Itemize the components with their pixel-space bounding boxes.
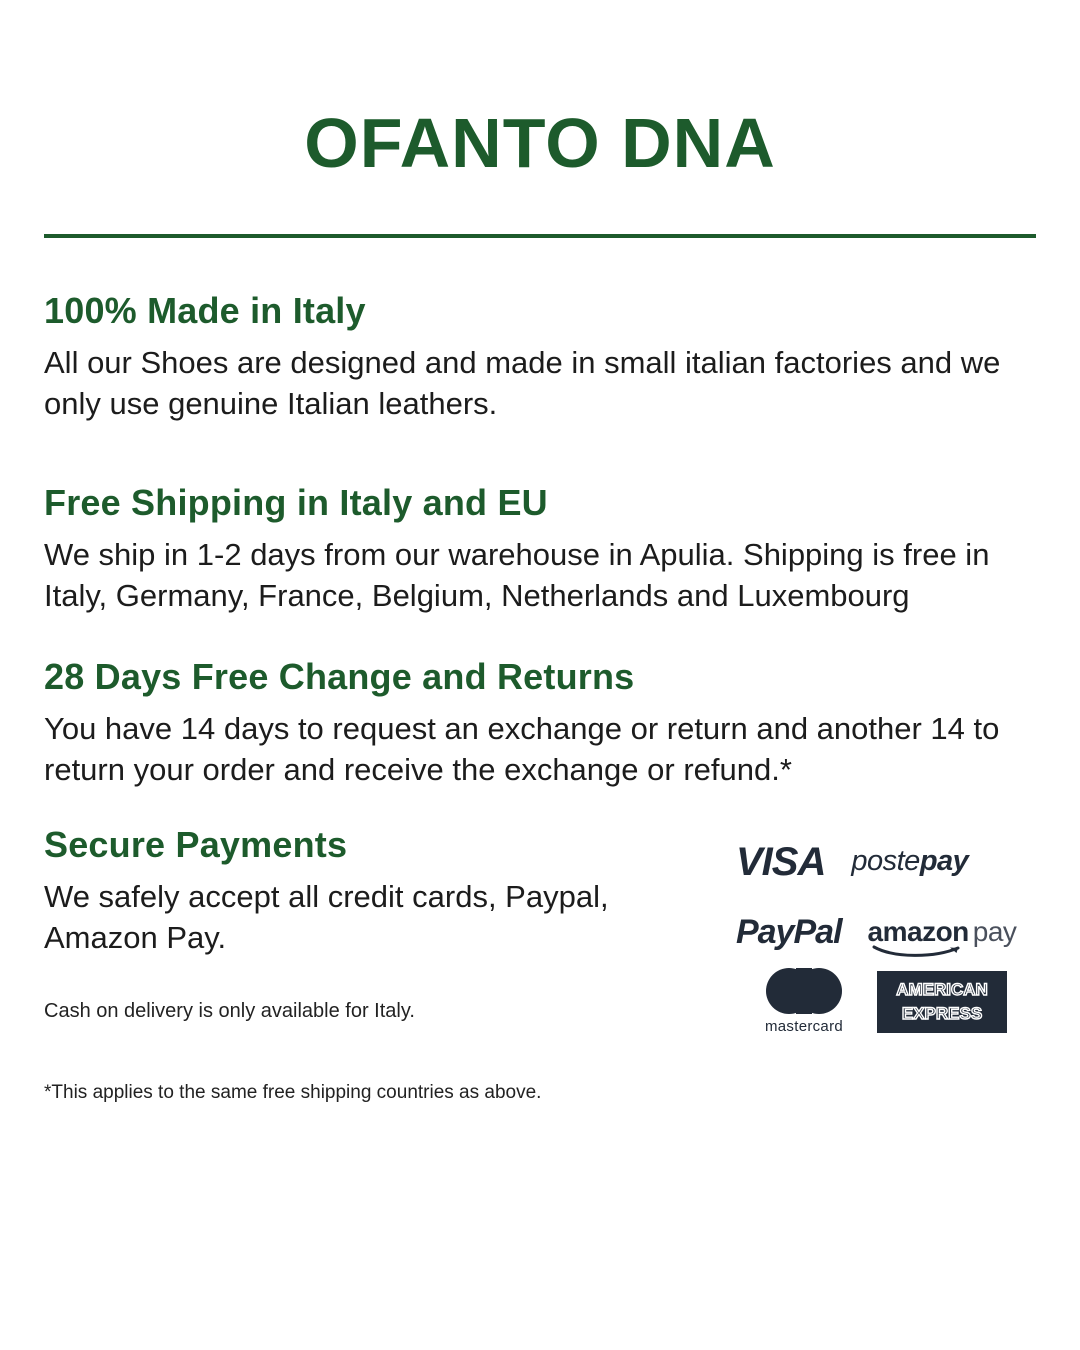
mastercard-icon: mastercard bbox=[765, 968, 843, 1035]
american-express-icon: AMERICAN EXPRESS bbox=[877, 971, 1007, 1033]
section-heading-returns: 28 Days Free Change and Returns bbox=[44, 656, 1036, 697]
postepay-label-light: poste bbox=[851, 845, 919, 877]
spacer bbox=[44, 424, 1036, 482]
section-free-shipping: Free Shipping in Italy and EU We ship in… bbox=[44, 482, 1036, 616]
section-heading-secure-payments: Secure Payments bbox=[44, 824, 684, 865]
page-title: OFANTO DNA bbox=[44, 0, 1036, 178]
amazon-pay-label: pay bbox=[973, 916, 1017, 947]
mastercard-overlap bbox=[796, 968, 812, 1014]
amex-line-2: EXPRESS bbox=[898, 1003, 986, 1024]
section-heading-free-shipping: Free Shipping in Italy and EU bbox=[44, 482, 1036, 523]
spacer bbox=[44, 958, 684, 998]
spacer bbox=[44, 790, 1036, 824]
footnote: *This applies to the same free shipping … bbox=[44, 1030, 1036, 1104]
section-secure-payments: Secure Payments We safely accept all cre… bbox=[44, 824, 1036, 1030]
section-heading-made-in-italy: 100% Made in Italy bbox=[44, 290, 1036, 331]
section-returns: 28 Days Free Change and Returns You have… bbox=[44, 656, 1036, 790]
postepay-icon: postepay bbox=[851, 847, 968, 876]
spacer bbox=[44, 616, 1036, 656]
section-body-free-shipping: We ship in 1-2 days from our warehouse i… bbox=[44, 535, 1036, 616]
paypal-icon: PayPal bbox=[736, 915, 842, 949]
title-divider bbox=[44, 234, 1036, 238]
section-body-made-in-italy: All our Shoes are designed and made in s… bbox=[44, 343, 1036, 424]
section-made-in-italy: 100% Made in Italy All our Shoes are des… bbox=[44, 290, 1036, 424]
payment-logos: VISA postepay PayPal amazonpay bbox=[736, 824, 1036, 1030]
page-root: OFANTO DNA 100% Made in Italy All our Sh… bbox=[0, 0, 1080, 1350]
visa-icon: VISA bbox=[736, 842, 825, 882]
payment-logo-row-2: PayPal amazonpay bbox=[736, 904, 1036, 960]
amazon-pay-icon: amazonpay bbox=[868, 918, 1017, 946]
sections-container: 100% Made in Italy All our Shoes are des… bbox=[44, 290, 1036, 1104]
payment-logo-row-3: mastercard AMERICAN EXPRESS bbox=[736, 974, 1036, 1030]
payment-logo-row-1: VISA postepay bbox=[736, 834, 1036, 890]
section-body-returns: You have 14 days to request an exchange … bbox=[44, 709, 1036, 790]
section-body-secure-payments: We safely accept all credit cards, Paypa… bbox=[44, 877, 684, 958]
payment-logo-grid: VISA postepay PayPal amazonpay bbox=[736, 834, 1036, 1030]
amazon-label: amazon bbox=[868, 916, 969, 947]
mastercard-circles bbox=[766, 968, 842, 1014]
secure-payments-text: Secure Payments We safely accept all cre… bbox=[44, 824, 684, 1025]
amazon-smile-arrow-icon bbox=[872, 944, 968, 958]
postepay-label-bold: pay bbox=[920, 845, 968, 877]
mastercard-label: mastercard bbox=[765, 1018, 843, 1035]
cash-on-delivery-note: Cash on delivery is only available for I… bbox=[44, 998, 684, 1025]
amex-line-1: AMERICAN bbox=[892, 979, 992, 1000]
